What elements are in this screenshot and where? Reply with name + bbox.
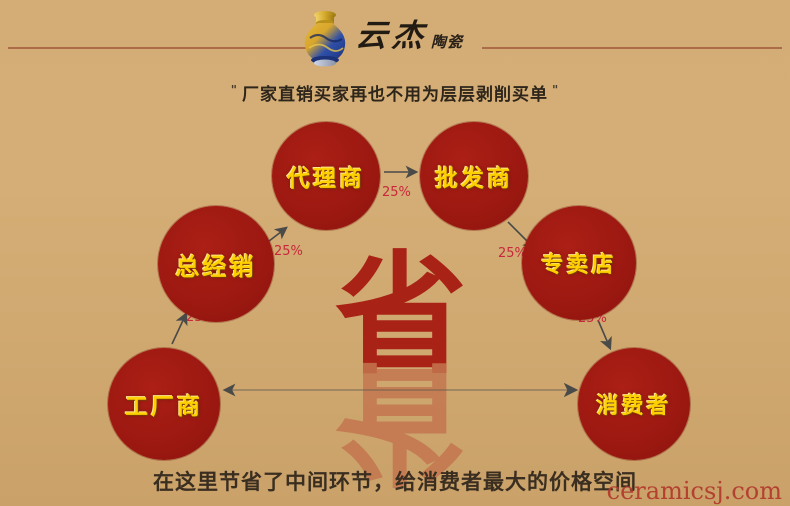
- quote-open-mark: ": [227, 83, 242, 97]
- node-distributor[interactable]: 总经销: [158, 206, 274, 322]
- markup-label-3: 25%: [382, 185, 411, 200]
- save-character: 省: [335, 262, 455, 370]
- brand-wordmark: 云杰 陶瓷: [356, 21, 463, 58]
- site-watermark: ceramicsj.com: [607, 477, 782, 505]
- node-store[interactable]: 专卖店: [522, 206, 636, 320]
- node-agent[interactable]: 代理商: [272, 122, 380, 230]
- ceramic-vase-icon: [300, 8, 350, 70]
- node-store-label: 专卖店: [541, 247, 616, 279]
- tagline-text: 厂家直销买家再也不用为层层剥削买单: [242, 85, 548, 105]
- arrow-factory-to-distributor: [172, 314, 186, 344]
- promo-banner: 云杰 陶瓷 "厂家直销买家再也不用为层层剥削买单" 省 省: [0, 0, 790, 506]
- save-character-reflection: 省: [335, 366, 455, 474]
- node-factory-label: 工厂商: [125, 387, 203, 421]
- node-agent-label: 代理商: [287, 159, 365, 193]
- node-factory[interactable]: 工厂商: [108, 348, 220, 460]
- node-consumer[interactable]: 消费者: [578, 348, 690, 460]
- markup-label-2: 25%: [274, 244, 303, 259]
- brand-main-text: 云杰: [354, 21, 429, 52]
- brand-logo[interactable]: 云杰 陶瓷: [300, 4, 495, 74]
- save-character-watermark: 省 省: [335, 262, 455, 474]
- node-consumer-label: 消费者: [596, 388, 671, 420]
- node-wholesaler-label: 批发商: [435, 159, 513, 193]
- tagline: "厂家直销买家再也不用为层层剥削买单": [0, 80, 790, 105]
- header-divider-right: [482, 47, 782, 49]
- header-divider-left: [8, 47, 308, 49]
- quote-close-mark: ": [548, 83, 563, 97]
- node-distributor-label: 总经销: [176, 247, 257, 282]
- node-wholesaler[interactable]: 批发商: [420, 122, 528, 230]
- brand-sub-text: 陶瓷: [431, 35, 463, 52]
